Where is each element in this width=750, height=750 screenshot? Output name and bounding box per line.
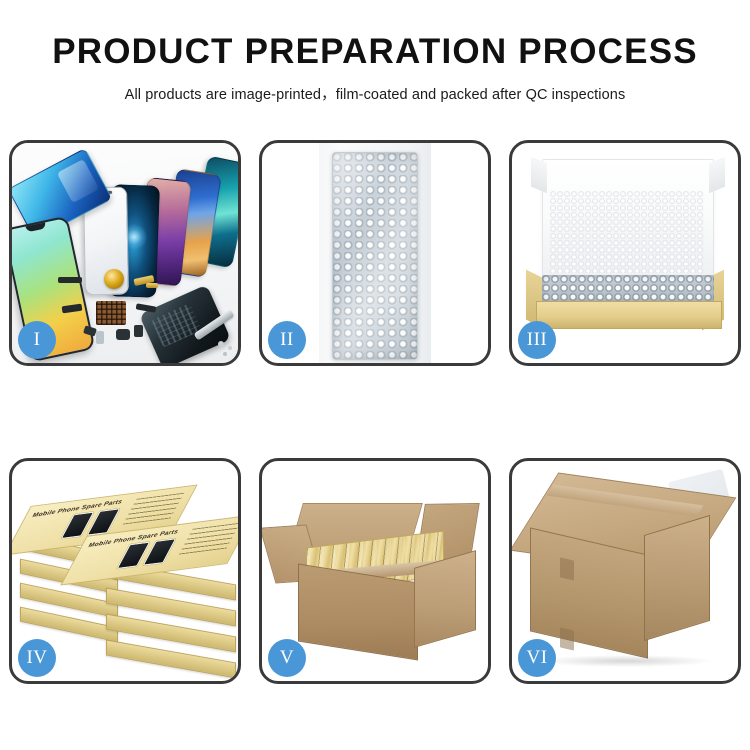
retail-box-stack: Mobile Phone Spare Parts Mobile Phone Sp… <box>18 477 238 673</box>
box-print-speclines-front <box>179 523 238 555</box>
connector-grid-part <box>96 301 126 325</box>
camera-module-part <box>116 329 130 340</box>
step-panel-5[interactable]: V <box>259 458 491 684</box>
step-badge-1: I <box>18 321 56 359</box>
small-parts-group <box>60 275 200 349</box>
copper-coil-part <box>104 269 124 289</box>
carton-handle-tab-top <box>560 557 574 580</box>
foam-sheet <box>550 191 704 273</box>
process-steps-grid: I II III <box>9 140 741 684</box>
carton-handle-tab-bottom <box>560 627 574 650</box>
speaker-part <box>83 325 97 336</box>
screws-part <box>218 341 224 347</box>
step-panel-4[interactable]: Mobile Phone Spare Parts Mobile Phone Sp… <box>9 458 241 684</box>
page-header: PRODUCT PREPARATION PROCESS All products… <box>0 0 750 104</box>
box-print-speclines-rear <box>123 493 184 525</box>
sim-tray-part <box>96 331 104 344</box>
page-subtitle: All products are image-printed，film-coat… <box>0 83 750 104</box>
step-panel-1[interactable]: I <box>9 140 241 366</box>
step-badge-5: V <box>268 639 306 677</box>
step-badge-3: III <box>518 321 556 359</box>
page-title: PRODUCT PREPARATION PROCESS <box>0 34 750 71</box>
step-badge-2: II <box>268 321 306 359</box>
flex-cable-part-3 <box>136 303 157 312</box>
vibrator-part <box>134 325 143 337</box>
flex-cable-part-2 <box>62 304 83 314</box>
carton-ground-shadow <box>540 655 712 667</box>
bubble-wrapped-contents <box>542 275 714 303</box>
flex-cable-part-1 <box>58 277 82 283</box>
bubble-wrap-pouch <box>332 152 418 360</box>
step-panel-6[interactable]: VI <box>509 458 741 684</box>
step-badge-4: IV <box>18 639 56 677</box>
wrap-backdrop <box>319 143 431 363</box>
step-panel-3[interactable]: III <box>509 140 741 366</box>
step-panel-2[interactable]: II <box>259 140 491 366</box>
carton-side-face <box>414 550 476 648</box>
gold-contact-part-2 <box>146 283 158 288</box>
sealed-carton-side <box>644 515 710 641</box>
step-badge-6: VI <box>518 639 556 677</box>
box-front-panel <box>536 301 722 329</box>
phone-screen-fan <box>90 157 238 285</box>
